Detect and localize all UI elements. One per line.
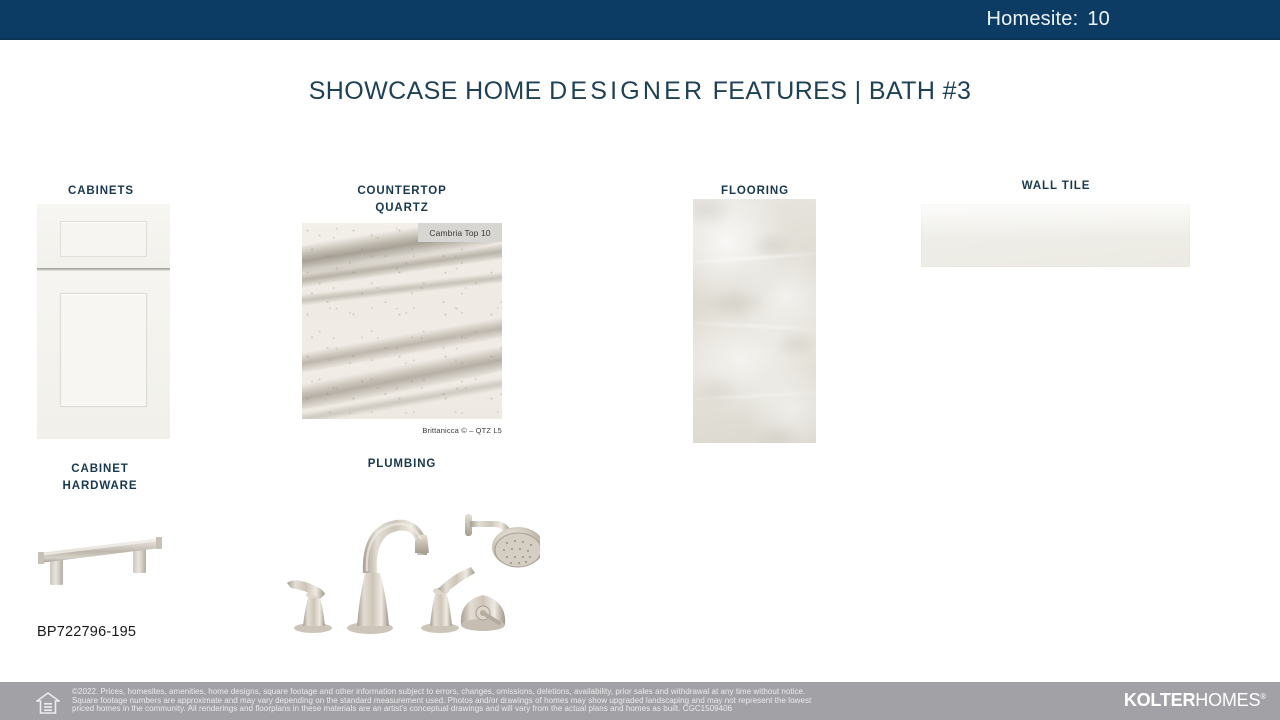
equal-housing-icon [36, 692, 60, 714]
plumbing-label: PLUMBING [332, 456, 472, 473]
bar-pull-icon [30, 515, 190, 625]
homesite-value: 10 [1087, 8, 1110, 30]
cabinet-drawer-panel [60, 221, 147, 257]
cabinet-hardware-swatch [30, 515, 190, 625]
logo-kolter: KOLTER [1124, 690, 1195, 710]
homesite-indicator: Homesite:10 [987, 8, 1111, 31]
flooring-swatch [693, 199, 816, 443]
flooring-mottle-texture [693, 199, 816, 443]
wall-tile-sheen [921, 204, 1190, 239]
quartz-speckle-texture [302, 223, 502, 419]
wall-tile-label: WALL TILE [986, 178, 1126, 195]
cabinet-door-panel [60, 293, 147, 407]
page-title-part1: SHOWCASE HOME [309, 77, 549, 105]
footer-disclaimer: ©2022. Prices, homesites, amenities, hom… [72, 688, 1082, 714]
logo-homes: HOMES [1195, 690, 1260, 710]
cabinet-hardware-label: CABINET HARDWARE [30, 461, 170, 495]
cabinets-swatch [37, 204, 170, 439]
homesite-label: Homesite: [987, 8, 1079, 30]
flooring-label: FLOORING [685, 183, 825, 200]
countertop-caption: Brittanicca © – QTZ L5 [302, 426, 502, 435]
plumbing-fixtures-icon [275, 495, 540, 640]
kolter-homes-logo: KOLTERHOMES® [1124, 690, 1266, 711]
cabinet-hardware-model: BP722796-195 [37, 624, 136, 640]
cabinet-door-front [37, 271, 170, 439]
footer-line-3: priced homes in the community. All rende… [72, 705, 1082, 714]
page-title-designer: DESIGNER [549, 77, 705, 105]
logo-registered-mark: ® [1260, 692, 1266, 701]
cabinets-label: CABINETS [31, 183, 171, 200]
page-title-part3: FEATURES | BATH #3 [705, 77, 971, 105]
wall-tile-swatch [921, 204, 1190, 267]
cambria-top-badge: Cambria Top 10 [418, 223, 502, 242]
countertop-quartz-swatch: Cambria Top 10 [302, 223, 502, 419]
page-title: SHOWCASE HOME DESIGNER FEATURES | BATH #… [0, 77, 1280, 106]
plumbing-swatch [275, 495, 540, 640]
countertop-label: COUNTERTOP QUARTZ [332, 183, 472, 217]
cabinet-drawer-front [37, 204, 170, 268]
